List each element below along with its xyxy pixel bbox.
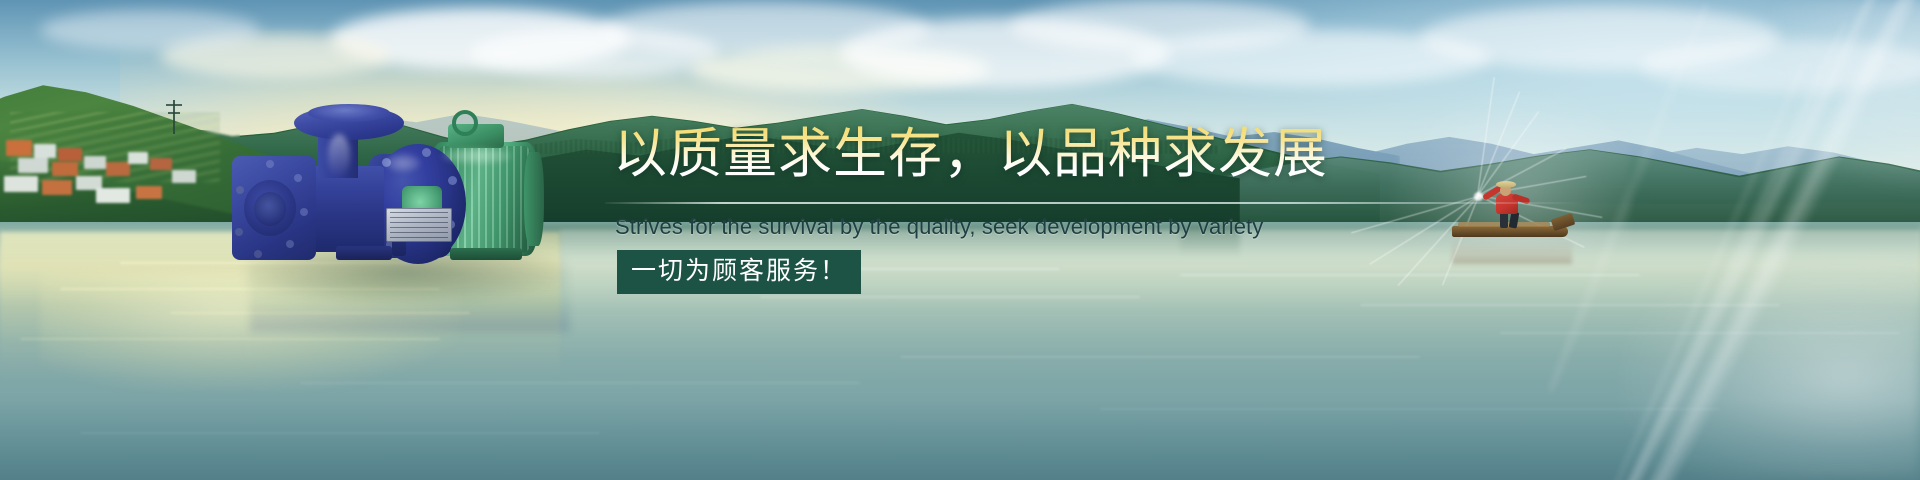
pump-specular-highlight xyxy=(386,154,420,172)
pump-nameplate-text xyxy=(390,212,448,238)
pump-base-foot xyxy=(450,248,522,260)
sun-flare-glow xyxy=(1620,250,1920,480)
pump-bolt xyxy=(254,250,262,258)
status-badge: 一切为顾客服务！ xyxy=(617,250,861,294)
pump-bolt xyxy=(236,186,244,194)
water-ripple xyxy=(900,356,1420,358)
pump-bolt xyxy=(294,174,302,182)
pump-bolt xyxy=(448,176,457,185)
pump-base-foot xyxy=(336,246,392,260)
hero-banner: 以质量求生存，以品种求发展 Strives for the survival b… xyxy=(0,0,1920,480)
transmission-tower-icon xyxy=(168,112,180,114)
water-ripple xyxy=(300,382,860,384)
pump-water-reflection xyxy=(250,262,570,332)
banner-subtitle: Strives for the survival by the quality,… xyxy=(615,213,1263,241)
page-title: 以质量求生存，以品种求发展 xyxy=(613,122,1328,186)
status-badge-label: 一切为顾客服务！ xyxy=(631,257,847,285)
pump-motor-lift-hook xyxy=(452,110,478,136)
village-blur-overlay xyxy=(0,130,240,230)
pump-discharge-flange-top xyxy=(308,104,390,122)
pump-bolt xyxy=(300,208,308,216)
pump-flange-bore xyxy=(254,192,286,226)
cloud-icon xyxy=(40,10,260,50)
sun-flare-glow xyxy=(1760,0,1920,200)
pump-motor-endcap xyxy=(524,152,544,246)
pump-specular-highlight xyxy=(328,134,350,178)
pump-bolt xyxy=(266,160,274,168)
pump-specular-highlight xyxy=(442,148,512,164)
pump-bolt xyxy=(286,240,294,248)
pump-bolt xyxy=(235,228,243,236)
water-ripple xyxy=(20,338,440,340)
water-ripple xyxy=(760,296,1140,298)
transmission-tower-icon xyxy=(166,104,182,106)
water-ripple xyxy=(80,432,600,434)
pump-bolt xyxy=(422,148,431,157)
divider xyxy=(605,202,1585,204)
banner-text-block: 以质量求生存，以品种求发展 Strives for the survival b… xyxy=(613,122,1513,292)
